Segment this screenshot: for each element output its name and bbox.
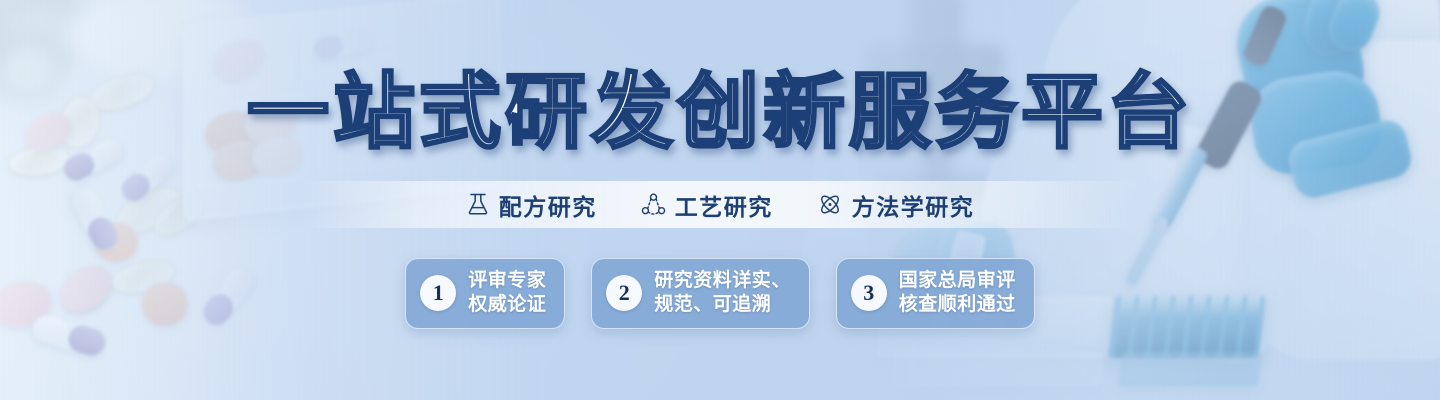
flask-icon — [466, 192, 490, 217]
atom-icon — [817, 192, 843, 217]
feature-text: 研究资料详实、 规范、可追溯 — [654, 269, 791, 318]
subtitle-row: 配方研究 工艺研究 — [0, 181, 1440, 228]
feature-card-3[interactable]: 3 国家总局审评 核查顺利通过 — [836, 258, 1035, 329]
subtitle-label: 方法学研究 — [852, 188, 975, 222]
feature-cards: 1 评审专家 权威论证 2 研究资料详实、 规范、可追溯 3 国家总局审评 核查… — [0, 258, 1440, 329]
feature-line-2: 权威论证 — [468, 293, 546, 317]
feature-line-1: 国家总局审评 — [899, 269, 1016, 293]
feature-number-badge: 1 — [420, 275, 456, 311]
banner-title: 一站式研发创新服务平台 — [0, 72, 1440, 154]
subtitle-item-methodology[interactable]: 方法学研究 — [817, 188, 975, 222]
feature-card-1[interactable]: 1 评审专家 权威论证 — [405, 258, 565, 329]
molecule-icon — [641, 192, 666, 217]
feature-line-2: 核查顺利通过 — [899, 293, 1016, 317]
banner-content: 一站式研发创新服务平台 配方研究 — [0, 0, 1440, 400]
subtitle-item-formulation[interactable]: 配方研究 — [466, 188, 597, 222]
subtitle-item-process[interactable]: 工艺研究 — [641, 188, 773, 222]
feature-number-badge: 2 — [606, 275, 642, 311]
subtitle-label: 工艺研究 — [675, 188, 773, 222]
feature-text: 国家总局审评 核查顺利通过 — [899, 269, 1016, 318]
feature-line-1: 研究资料详实、 — [654, 269, 791, 293]
feature-line-1: 评审专家 — [468, 269, 546, 293]
feature-card-2[interactable]: 2 研究资料详实、 规范、可追溯 — [591, 258, 810, 329]
subtitle-label: 配方研究 — [499, 188, 597, 222]
feature-text: 评审专家 权威论证 — [468, 269, 546, 318]
promo-banner: 一站式研发创新服务平台 配方研究 — [0, 0, 1440, 400]
feature-line-2: 规范、可追溯 — [654, 293, 791, 317]
feature-number-badge: 3 — [851, 275, 887, 311]
